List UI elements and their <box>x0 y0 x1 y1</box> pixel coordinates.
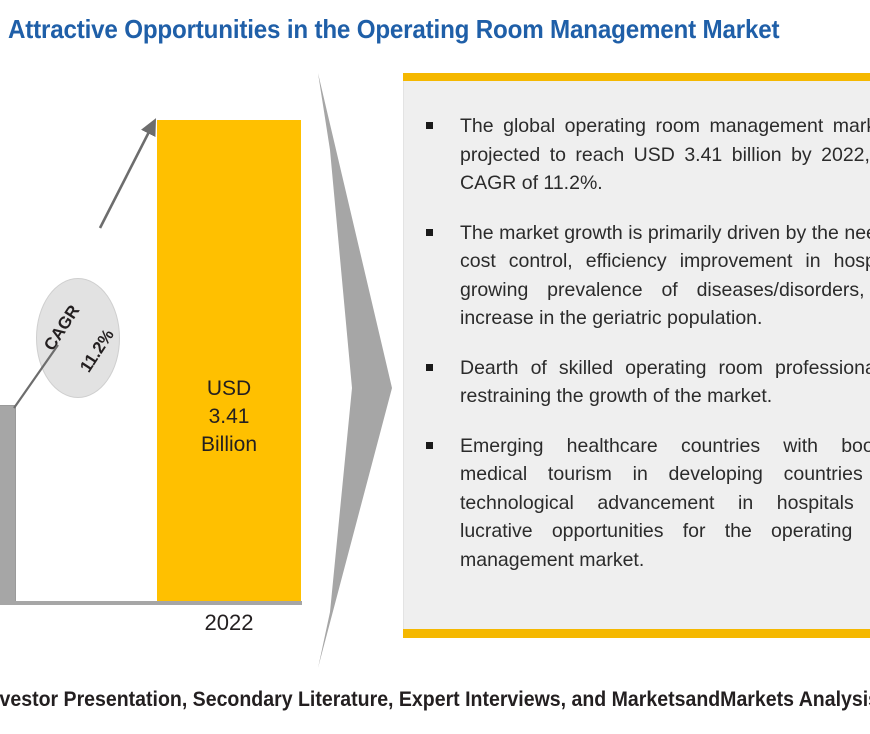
bullet-text: Dearth of skilled operating room profess… <box>460 354 870 411</box>
bullet-text: The market growth is primarily driven by… <box>460 219 870 333</box>
cagr-value: 11.2% <box>74 324 119 377</box>
cagr-callout-text: CAGR 11.2% <box>6 271 152 407</box>
cagr-label: CAGR <box>39 301 84 354</box>
bullet-square-icon <box>426 229 433 236</box>
list-item: Dearth of skilled operating room profess… <box>424 354 870 411</box>
list-item: Emerging healthcare countries with boomi… <box>424 432 870 575</box>
bullet-square-icon <box>426 442 433 449</box>
bar-2017 <box>0 405 16 602</box>
highlights-bullet-list: The global operating room management mar… <box>424 112 870 595</box>
x-axis-tick-2022: 2022 <box>157 610 301 636</box>
bullet-text: Emerging healthcare countries with boomi… <box>460 432 870 575</box>
bullet-text: The global operating room management mar… <box>460 112 870 198</box>
infographic-canvas: Attractive Opportunities in the Operatin… <box>0 0 870 734</box>
list-item: The market growth is primarily driven by… <box>424 219 870 333</box>
bullet-square-icon <box>426 364 433 371</box>
bar-2022-value-label: USD 3.41 Billion <box>157 375 301 459</box>
bar-value-line-3: Billion <box>157 431 301 459</box>
source-footer: Source: Investor Presentation, Secondary… <box>0 688 870 712</box>
panel-bottom-accent-bar <box>403 629 870 638</box>
bar-value-line-1: USD <box>157 375 301 403</box>
bar-2022: USD 3.41 Billion <box>157 120 301 602</box>
bar-value-line-2: 3.41 <box>157 403 301 431</box>
bullet-square-icon <box>426 122 433 129</box>
cagr-callout: CAGR 11.2% <box>36 278 120 398</box>
list-item: The global operating room management mar… <box>424 112 870 198</box>
x-axis-line <box>0 601 302 605</box>
page-title: Attractive Opportunities in the Operatin… <box>8 14 808 45</box>
bar-chart: USD 3.41 Billion 2022 CAGR 11.2% <box>0 60 400 660</box>
panel-top-accent-bar <box>403 73 870 81</box>
